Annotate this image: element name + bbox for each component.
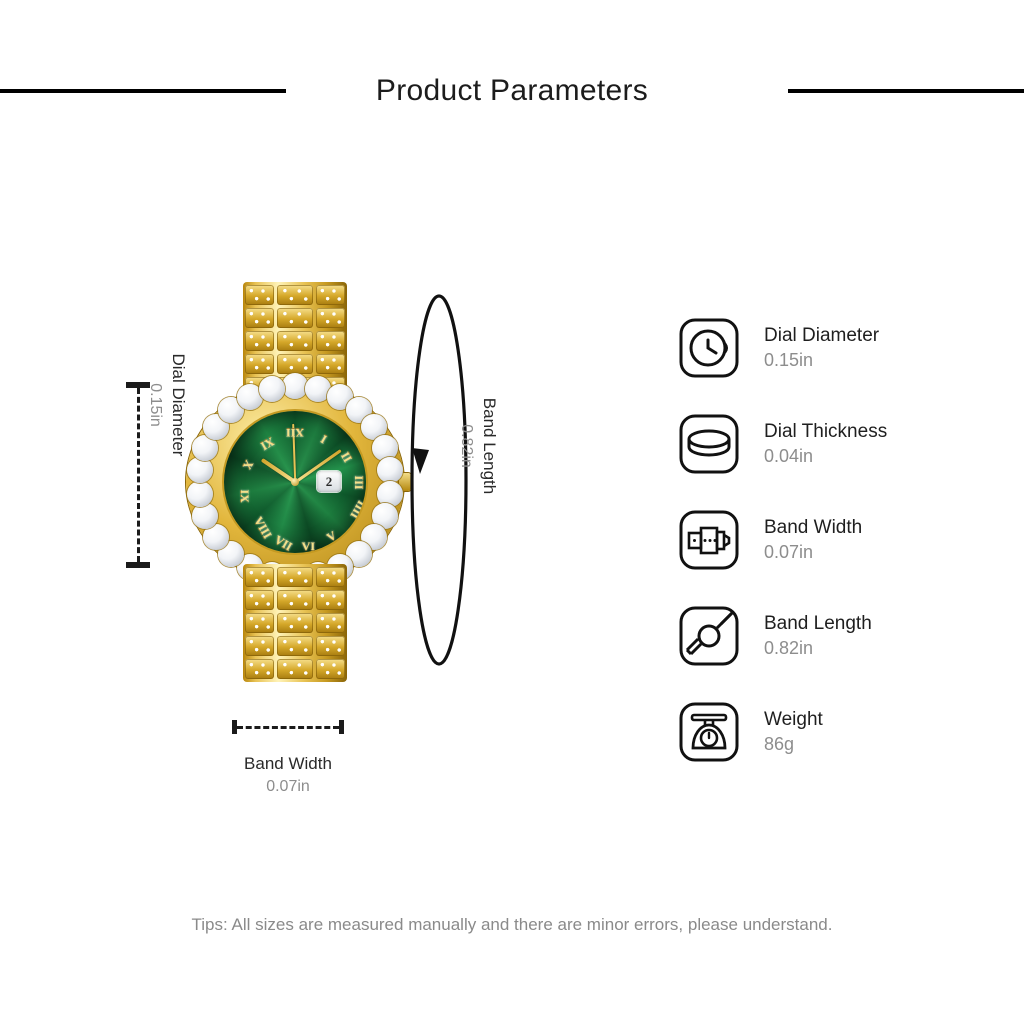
band-link [277,331,313,351]
band-length-annotation-label: Band Length [477,351,501,541]
spec-text-dial-thickness: Dial Thickness 0.04in [764,419,887,469]
dial-numeral: VI [302,539,315,553]
band-link [245,659,274,679]
spec-value: 86g [764,732,823,757]
spec-list: Dial Diameter 0.15in Dial Thickness 0.04… [676,300,1006,780]
band-width-annotation: Band Width 0.07in [168,752,408,798]
bezel-diamond [259,376,285,402]
spec-value: 0.07in [764,540,862,565]
dimension-dashed-line [237,726,339,729]
spec-text-band-width: Band Width 0.07in [764,515,862,565]
band-link [277,613,313,633]
band-link [277,636,313,656]
band-link [245,636,274,656]
spec-row-dial-diameter: Dial Diameter 0.15in [676,300,1006,396]
band-link [316,331,345,351]
band-link [316,590,345,610]
band-width-dimension-line [232,718,344,736]
band-link [316,613,345,633]
page-header: Product Parameters [0,60,1024,122]
dial-numeral: XII [286,425,304,440]
watch-band-lower [243,564,347,682]
dial-diameter-annotation-value: 0.15in [144,310,166,500]
spec-row-weight: Weight 86g [676,684,1006,780]
bezel-diamond [187,481,213,507]
hand-center-cap [291,478,299,486]
band-link [245,567,274,587]
band-link [245,613,274,633]
spec-text-dial-diameter: Dial Diameter 0.15in [764,323,879,373]
spec-label: Weight [764,709,823,730]
band-width-annotation-label: Band Width [168,752,408,776]
spec-value: 0.15in [764,348,879,373]
watch-dial: 2 XIIIIIIIIIIIIVVIVIIVIIIIXXXI [224,411,366,553]
band-link [316,636,345,656]
spec-label: Dial Thickness [764,421,887,442]
band-link [245,308,274,328]
title-rule-right [788,89,1024,93]
band-link [316,308,345,328]
dimension-cap-right [339,720,344,734]
spec-text-weight: Weight 86g [764,707,823,757]
band-link [245,354,274,374]
dial-diameter-annotation: Dial Diameter 0.15in [130,310,190,500]
spec-row-dial-thickness: Dial Thickness 0.04in [676,396,1006,492]
spec-text-band-length: Band Length 0.82in [764,611,872,661]
band-link-group [245,567,345,679]
band-link [245,590,274,610]
watch-case: 2 XIIIIIIIIIIIIVVIVIIVIIIIXXXI [186,382,404,582]
date-window: 2 [317,471,341,492]
band-link [277,590,313,610]
spec-value: 0.82in [764,636,872,661]
band-length-annotation-value: 0.82in [455,351,477,541]
spec-label: Band Width [764,517,862,538]
spec-label: Band Length [764,613,872,634]
band-link [277,308,313,328]
band-link [277,659,313,679]
dial-numeral: III [352,475,366,489]
spec-value: 0.04in [764,444,887,469]
band-link [245,285,274,305]
band-link [277,354,313,374]
spec-label: Dial Diameter [764,325,879,346]
tips-note: Tips: All sizes are measured manually an… [0,915,1024,935]
spec-row-band-length: Band Length 0.82in [676,588,1006,684]
bezel-diamond [377,457,403,483]
watch-band-icon [676,507,742,573]
band-link [245,331,274,351]
bezel-diamond [187,457,213,483]
spec-row-band-width: Band Width 0.07in [676,492,1006,588]
dial-numeral: IX [237,490,252,503]
product-image: 2 XIIIIIIIIIIIIVVIVIIVIIIIXXXI [175,282,415,682]
band-link [316,354,345,374]
band-link [316,567,345,587]
watch-strap-icon [676,603,742,669]
band-length-annotation: Band Length 0.82in [445,351,501,541]
band-link [277,567,313,587]
band-link [316,285,345,305]
kitchen-scale-icon [676,699,742,765]
disc-thickness-icon [676,411,742,477]
dimension-cap-bottom [126,562,150,568]
band-link [316,659,345,679]
watch-face-icon [676,315,742,381]
band-width-annotation-value: 0.07in [168,776,408,798]
band-link [277,285,313,305]
dial-diameter-annotation-label: Dial Diameter [166,310,190,500]
bezel-diamond [282,373,308,399]
